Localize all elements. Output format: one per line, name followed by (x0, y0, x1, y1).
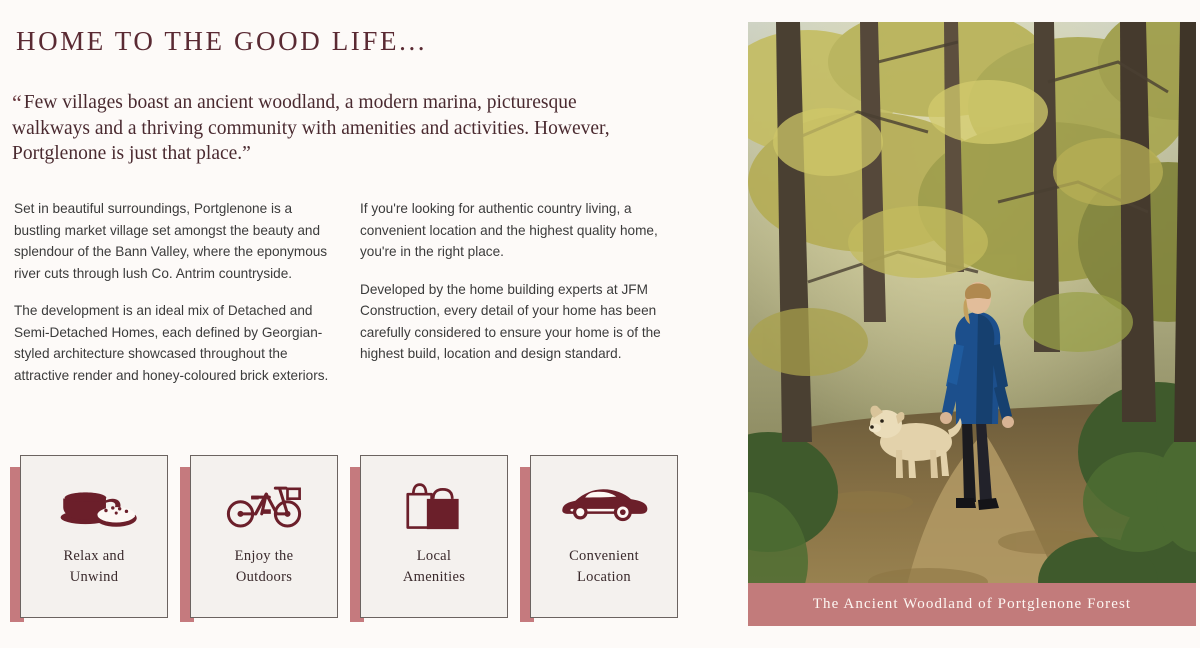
feature-card-convenient-location[interactable]: Convenient Location (520, 455, 690, 635)
woodland-photo: The Ancient Woodland of Portglenone Fore… (748, 22, 1196, 626)
card-label: Enjoy the Outdoors (235, 546, 294, 588)
card-label-line1: Local (417, 548, 452, 564)
card-label-line2: Location (577, 569, 631, 585)
feature-card-enjoy-the-outdoors[interactable]: Enjoy the Outdoors (180, 455, 350, 635)
photo-caption: The Ancient Woodland of Portglenone Fore… (748, 583, 1196, 626)
shopping-bags-icon (403, 478, 465, 530)
card-body[interactable]: Local Amenities (360, 455, 508, 618)
card-label-line1: Relax and (63, 548, 124, 564)
brochure-page: HOME TO THE GOOD LIFE... “Few villages b… (0, 0, 1200, 648)
paragraph: If you're looking for authentic country … (360, 198, 690, 263)
card-label-line1: Convenient (569, 548, 639, 564)
coffee-cup-and-cake-icon (51, 478, 137, 530)
card-label-line2: Outdoors (236, 569, 292, 585)
pull-quote-text: Few villages boast an ancient woodland, … (12, 92, 610, 164)
card-body[interactable]: Convenient Location (530, 455, 678, 618)
pull-quote: “Few villages boast an ancient woodland,… (12, 90, 652, 167)
card-body[interactable]: Enjoy the Outdoors (190, 455, 338, 618)
left-content-column: HOME TO THE GOOD LIFE... “Few villages b… (0, 0, 740, 648)
feature-card-list: Relax and Unwind (0, 455, 740, 640)
paragraph: Set in beautiful surroundings, Portgleno… (14, 198, 334, 284)
feature-card-local-amenities[interactable]: Local Amenities (350, 455, 520, 635)
body-column-right: If you're looking for authentic country … (360, 198, 690, 381)
paragraph: Developed by the home building experts a… (360, 279, 690, 365)
card-label-line2: Unwind (70, 569, 119, 585)
card-label: Convenient Location (569, 546, 639, 588)
bicycle-icon (222, 478, 306, 530)
photo-illustration (748, 22, 1196, 626)
paragraph: The development is an ideal mix of Detac… (14, 300, 334, 386)
body-column-left: Set in beautiful surroundings, Portgleno… (14, 198, 334, 402)
card-label-line1: Enjoy the (235, 548, 294, 564)
feature-card-relax-and-unwind[interactable]: Relax and Unwind (10, 455, 180, 635)
card-label: Relax and Unwind (63, 546, 124, 588)
page-title: HOME TO THE GOOD LIFE... (16, 26, 427, 57)
card-body[interactable]: Relax and Unwind (20, 455, 168, 618)
car-icon (559, 478, 649, 530)
card-label: Local Amenities (403, 546, 465, 588)
quote-mark-icon: “ (12, 90, 22, 115)
card-label-line2: Amenities (403, 569, 465, 585)
